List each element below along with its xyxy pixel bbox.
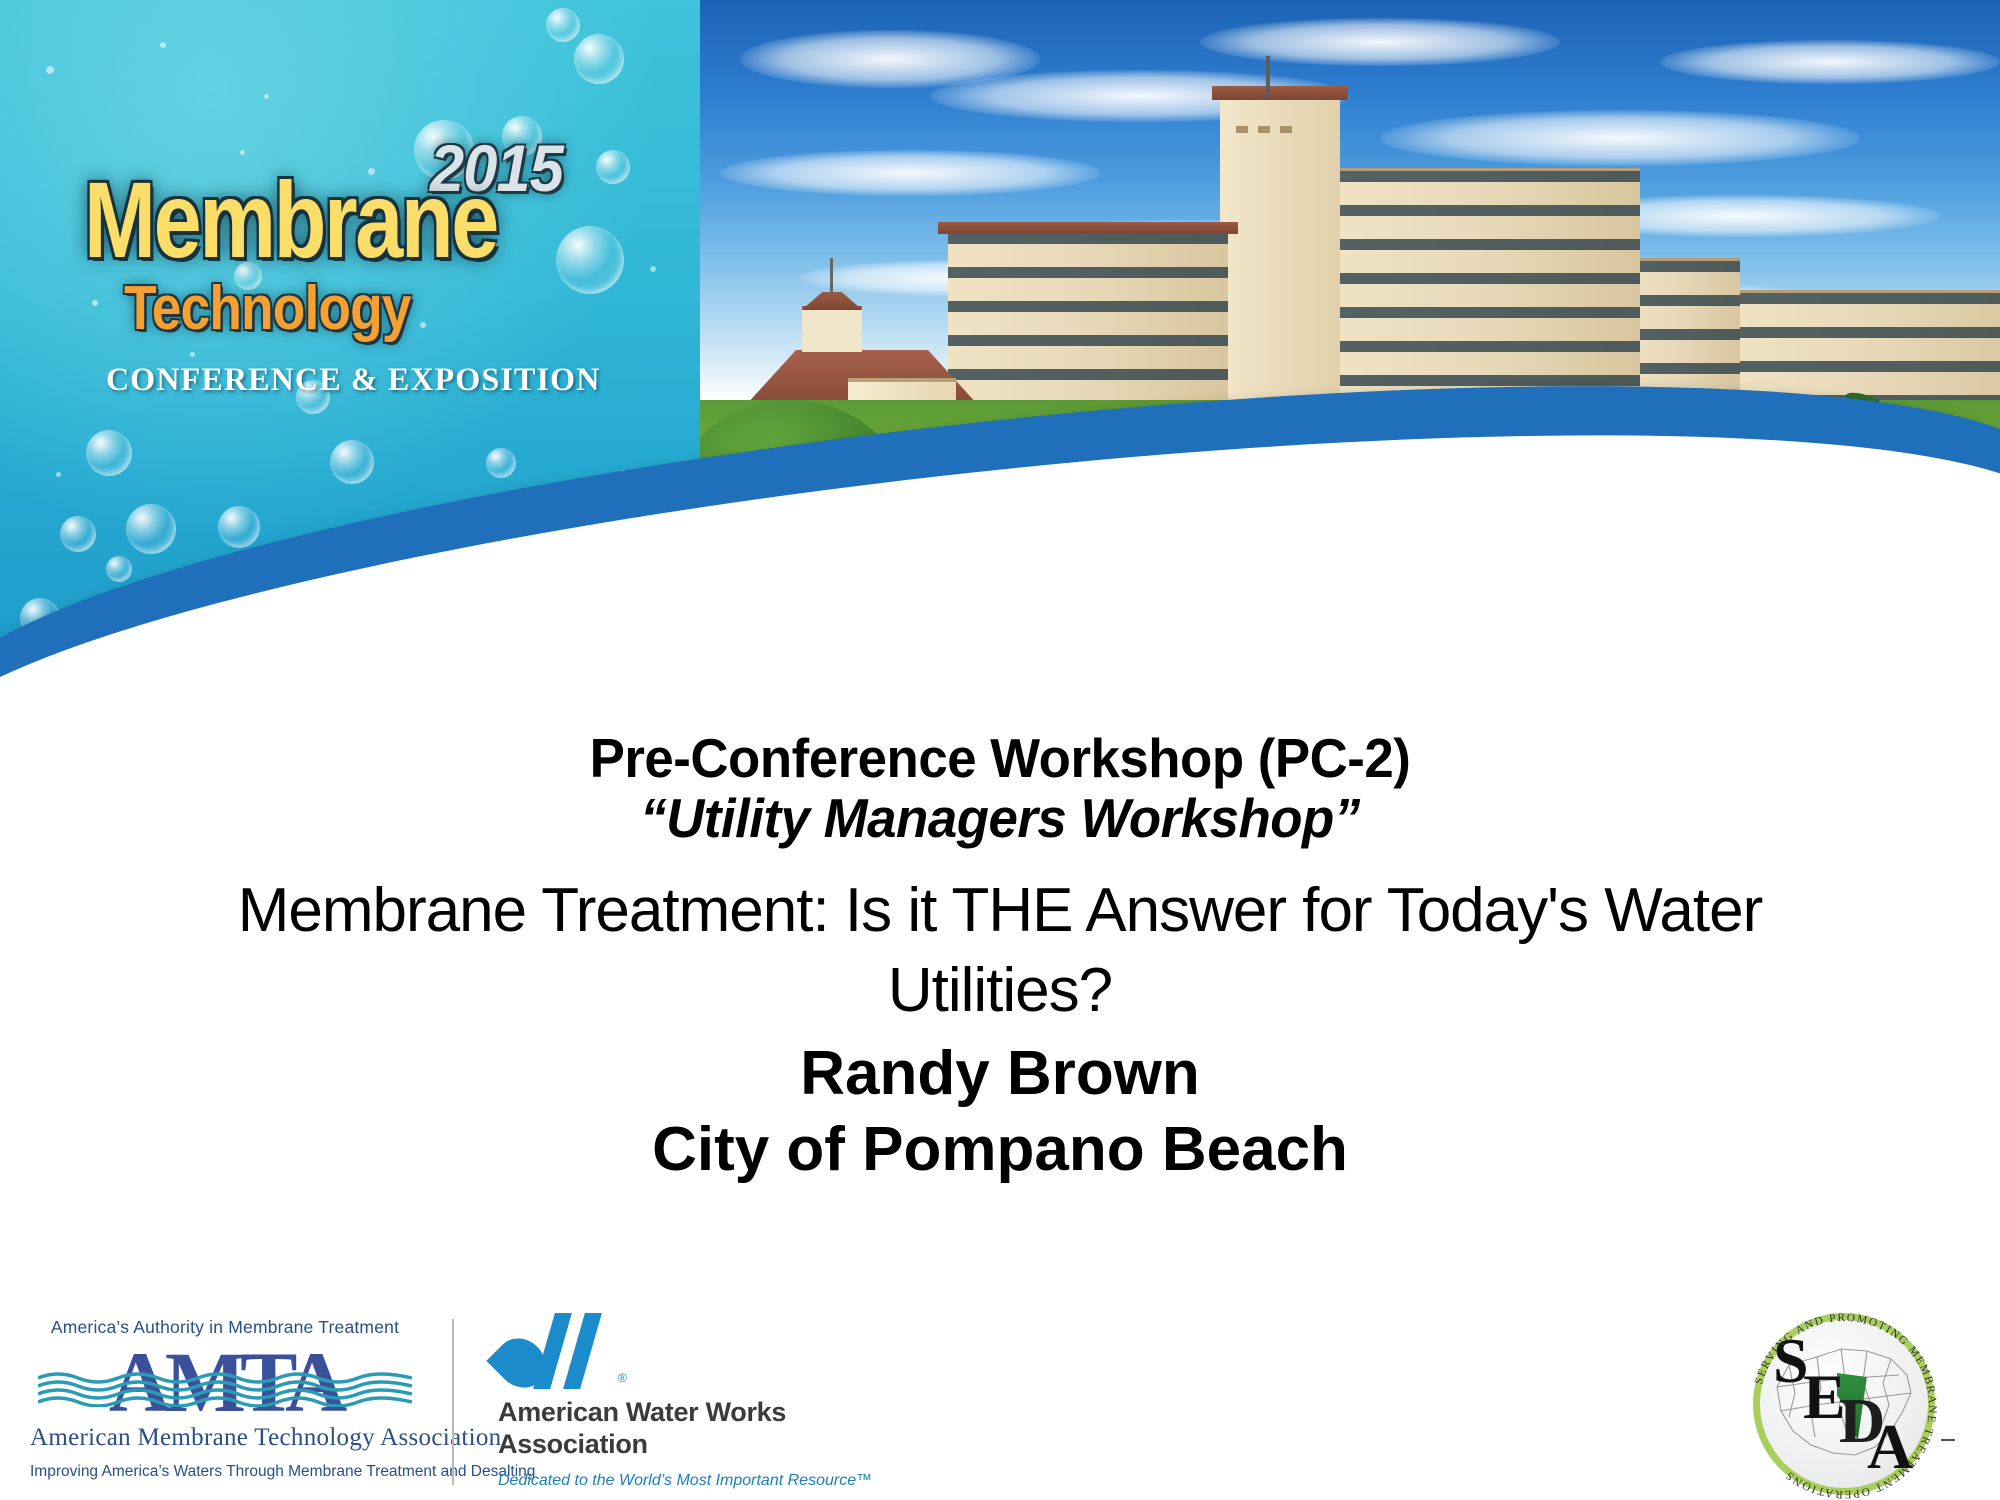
awwa-tagline: Dedicated to the World’s Most Important …: [498, 1472, 828, 1490]
main-title-line-1: Membrane Treatment: Is it THE Answer for: [238, 876, 1372, 945]
logo-word-technology: Technology: [124, 278, 411, 340]
awwa-name-line-2: Association: [498, 1429, 828, 1461]
amta-wordmark: AMTA: [30, 1341, 420, 1423]
amta-water-waves-icon: [38, 1371, 412, 1407]
awwa-droplet-icon: ®: [498, 1319, 633, 1389]
seda-dash: [1941, 1439, 1955, 1441]
logo-subtitle: CONFERENCE & EXPOSITION: [106, 362, 601, 399]
seda-logo: S E D A SERVING AND PROMOTING MEMBRANE T…: [1745, 1307, 1960, 1499]
awwa-logo: ® American Water Works Association Dedic…: [498, 1319, 828, 1494]
amta-logo: America’s Authority in Membrane Treatmen…: [30, 1317, 420, 1495]
membrane-technology-logo: 2015 Membrane Technology CONFERENCE & EX…: [84, 130, 684, 420]
awwa-name: American Water Works Association: [498, 1397, 828, 1460]
logo-divider: [452, 1319, 454, 1485]
amta-tagline-bottom: Improving America’s Waters Through Membr…: [30, 1463, 420, 1481]
svg-text:SERVING AND PROMOTING MEMBRANE: SERVING AND PROMOTING MEMBRANE TREATMENT…: [1753, 1312, 1938, 1500]
main-title: Membrane Treatment: Is it THE Answer for…: [0, 871, 2000, 1030]
presenter-name: Randy Brown: [0, 1036, 2000, 1112]
awwa-registered-mark: ®: [618, 1371, 627, 1385]
presenter-org: City of Pompano Beach: [0, 1112, 2000, 1188]
workshop-subtitle: “Utility Managers Workshop”: [40, 788, 1960, 850]
seda-ring-text: SERVING AND PROMOTING MEMBRANE TREATMENT…: [1745, 1307, 1943, 1500]
slide-title-block: Pre-Conference Workshop (PC-2) “Utility …: [0, 730, 2000, 1187]
awwa-name-line-1: American Water Works: [498, 1397, 828, 1429]
presentation-slide: 2015 Membrane Technology CONFERENCE & EX…: [0, 0, 2000, 1500]
logo-word-membrane: Membrane: [84, 166, 497, 274]
workshop-line: Pre-Conference Workshop (PC-2): [40, 730, 1960, 788]
sponsor-logo-bar: America’s Authority in Membrane Treatmen…: [0, 1305, 2000, 1500]
